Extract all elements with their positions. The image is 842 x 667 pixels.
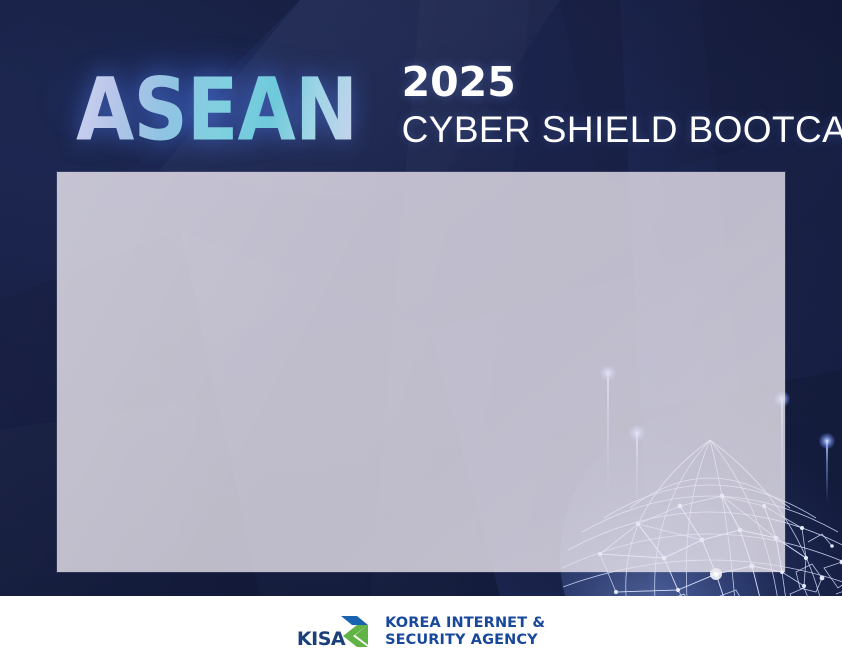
kisa-chevron-icon <box>337 614 371 650</box>
event-year: 2025 <box>402 58 842 106</box>
light-beam-icon <box>826 440 828 502</box>
kisa-logo: KISA KOREA INTERNET & SECURITY AGENCY <box>297 614 545 650</box>
presentation-slide: ASEAN 2025 CYBER SHIELD BOOTCAMP <box>0 0 842 667</box>
kisa-name-text: KOREA INTERNET & SECURITY AGENCY <box>385 615 545 649</box>
kisa-name-line-2: SECURITY AGENCY <box>385 632 545 649</box>
asean-brand-wordmark: ASEAN <box>76 60 357 162</box>
title-block: 2025 CYBER SHIELD BOOTCAMP <box>402 58 842 152</box>
event-subtitle: CYBER SHIELD BOOTCAMP <box>402 108 842 152</box>
slide-footer: KISA KOREA INTERNET & SECURITY AGENCY <box>0 596 842 667</box>
slide-header: ASEAN 2025 CYBER SHIELD BOOTCAMP <box>76 52 842 162</box>
content-panel <box>57 172 785 572</box>
slide-stage: ASEAN 2025 CYBER SHIELD BOOTCAMP <box>0 0 842 596</box>
kisa-name-line-1: KOREA INTERNET & <box>385 615 545 632</box>
kisa-logomark: KISA <box>297 614 371 650</box>
content-body-text <box>57 172 785 572</box>
